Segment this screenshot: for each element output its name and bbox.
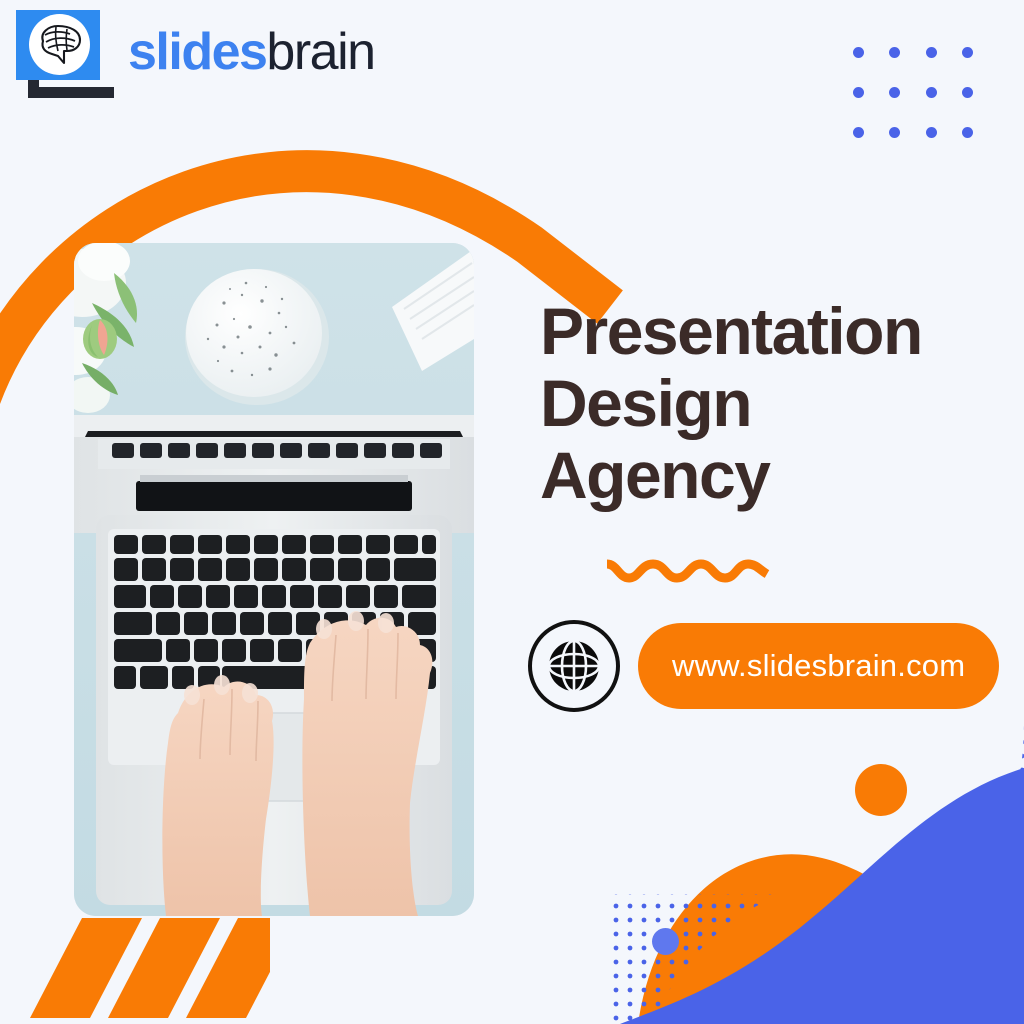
website-url-label: www.slidesbrain.com — [672, 648, 965, 684]
headline-line-2: Design — [540, 368, 1010, 440]
halftone-dots-bottom-right — [724, 724, 1024, 1024]
brand-logo[interactable]: slidesbrain — [16, 10, 375, 98]
brain-in-screen-icon — [16, 10, 114, 98]
brand-wordmark: slidesbrain — [128, 26, 375, 78]
wordmark-brain: brain — [266, 23, 374, 81]
dot-grid-decoration — [840, 32, 986, 152]
globe-icon[interactable] — [528, 620, 620, 712]
website-row[interactable]: www.slidesbrain.com — [528, 620, 999, 712]
halftone-dots-bottom-left — [612, 874, 782, 1024]
website-url-button[interactable]: www.slidesbrain.com — [638, 623, 999, 709]
wavy-underline-decoration — [603, 552, 771, 586]
wordmark-slides: slides — [128, 23, 266, 81]
blue-dot-decoration — [652, 928, 679, 955]
poster-canvas: slidesbrain — [0, 0, 1024, 1024]
orange-circle-decoration — [855, 764, 907, 816]
headline-line-1: Presentation — [540, 296, 1010, 368]
headline-line-3: Agency — [540, 440, 1010, 512]
laptop-photo-card — [74, 243, 474, 916]
laptop-photo — [74, 243, 474, 916]
page-title: Presentation Design Agency — [540, 296, 1010, 512]
diagonal-stripes-decoration — [30, 918, 270, 1024]
brain-icon — [29, 14, 90, 75]
